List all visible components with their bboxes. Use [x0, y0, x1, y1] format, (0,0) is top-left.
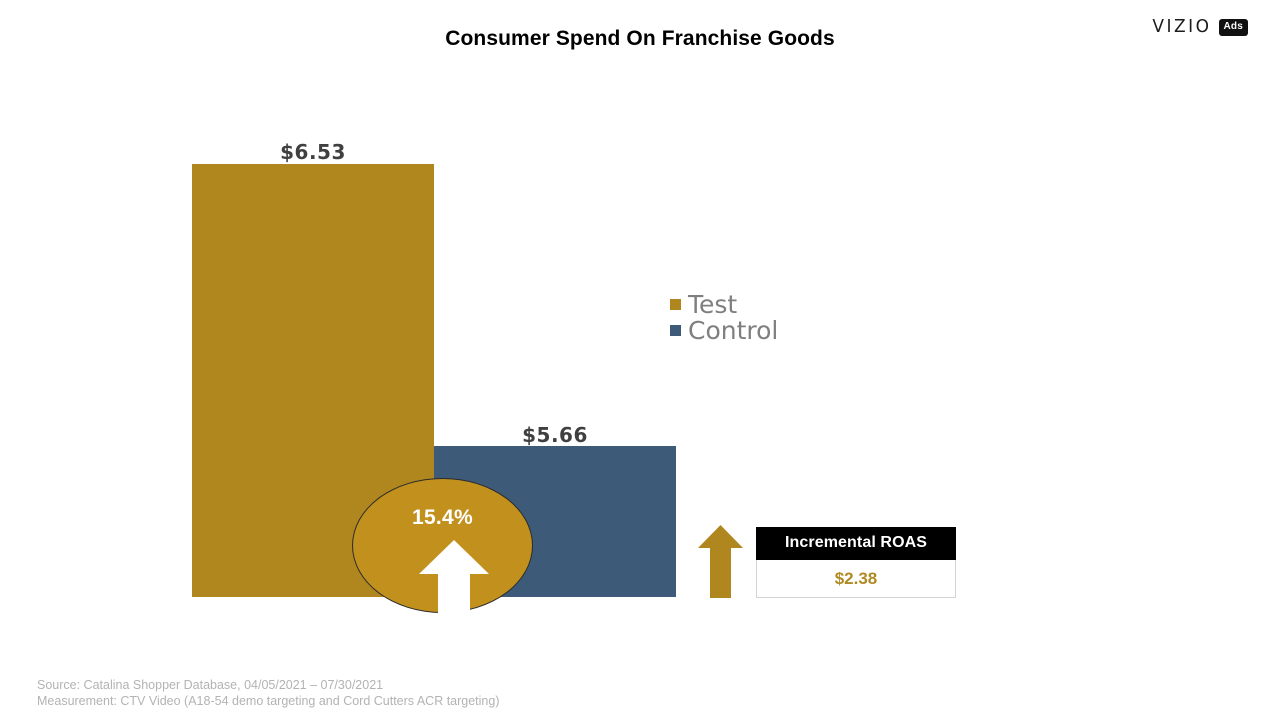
incremental-roas-card: Incremental ROAS $2.38: [756, 527, 956, 598]
arrow-up-icon: [419, 540, 489, 616]
legend-item-control: Control: [670, 317, 778, 343]
legend-label-control: Control: [688, 318, 778, 343]
footnote-source: Source: Catalina Shopper Database, 04/05…: [37, 677, 500, 693]
legend-swatch-test: [670, 299, 681, 310]
bar-value-label-control: $5.66: [434, 423, 676, 447]
legend-item-test: Test: [670, 291, 778, 317]
bar-chart-plot-area: $6.53 $5.66 Test Control 15.4% Increment…: [0, 0, 1280, 720]
arrow-up-icon: [698, 525, 743, 598]
bar-value-label-test: $6.53: [192, 140, 434, 164]
chart-legend: Test Control: [670, 291, 778, 343]
legend-swatch-control: [670, 325, 681, 336]
footnote-measurement: Measurement: CTV Video (A18-54 demo targ…: [37, 693, 500, 709]
incremental-roas-value: $2.38: [756, 560, 956, 598]
lift-percent-label: 15.4%: [352, 506, 533, 530]
footnotes: Source: Catalina Shopper Database, 04/05…: [37, 677, 500, 709]
legend-label-test: Test: [688, 292, 737, 317]
incremental-roas-header: Incremental ROAS: [756, 527, 956, 560]
